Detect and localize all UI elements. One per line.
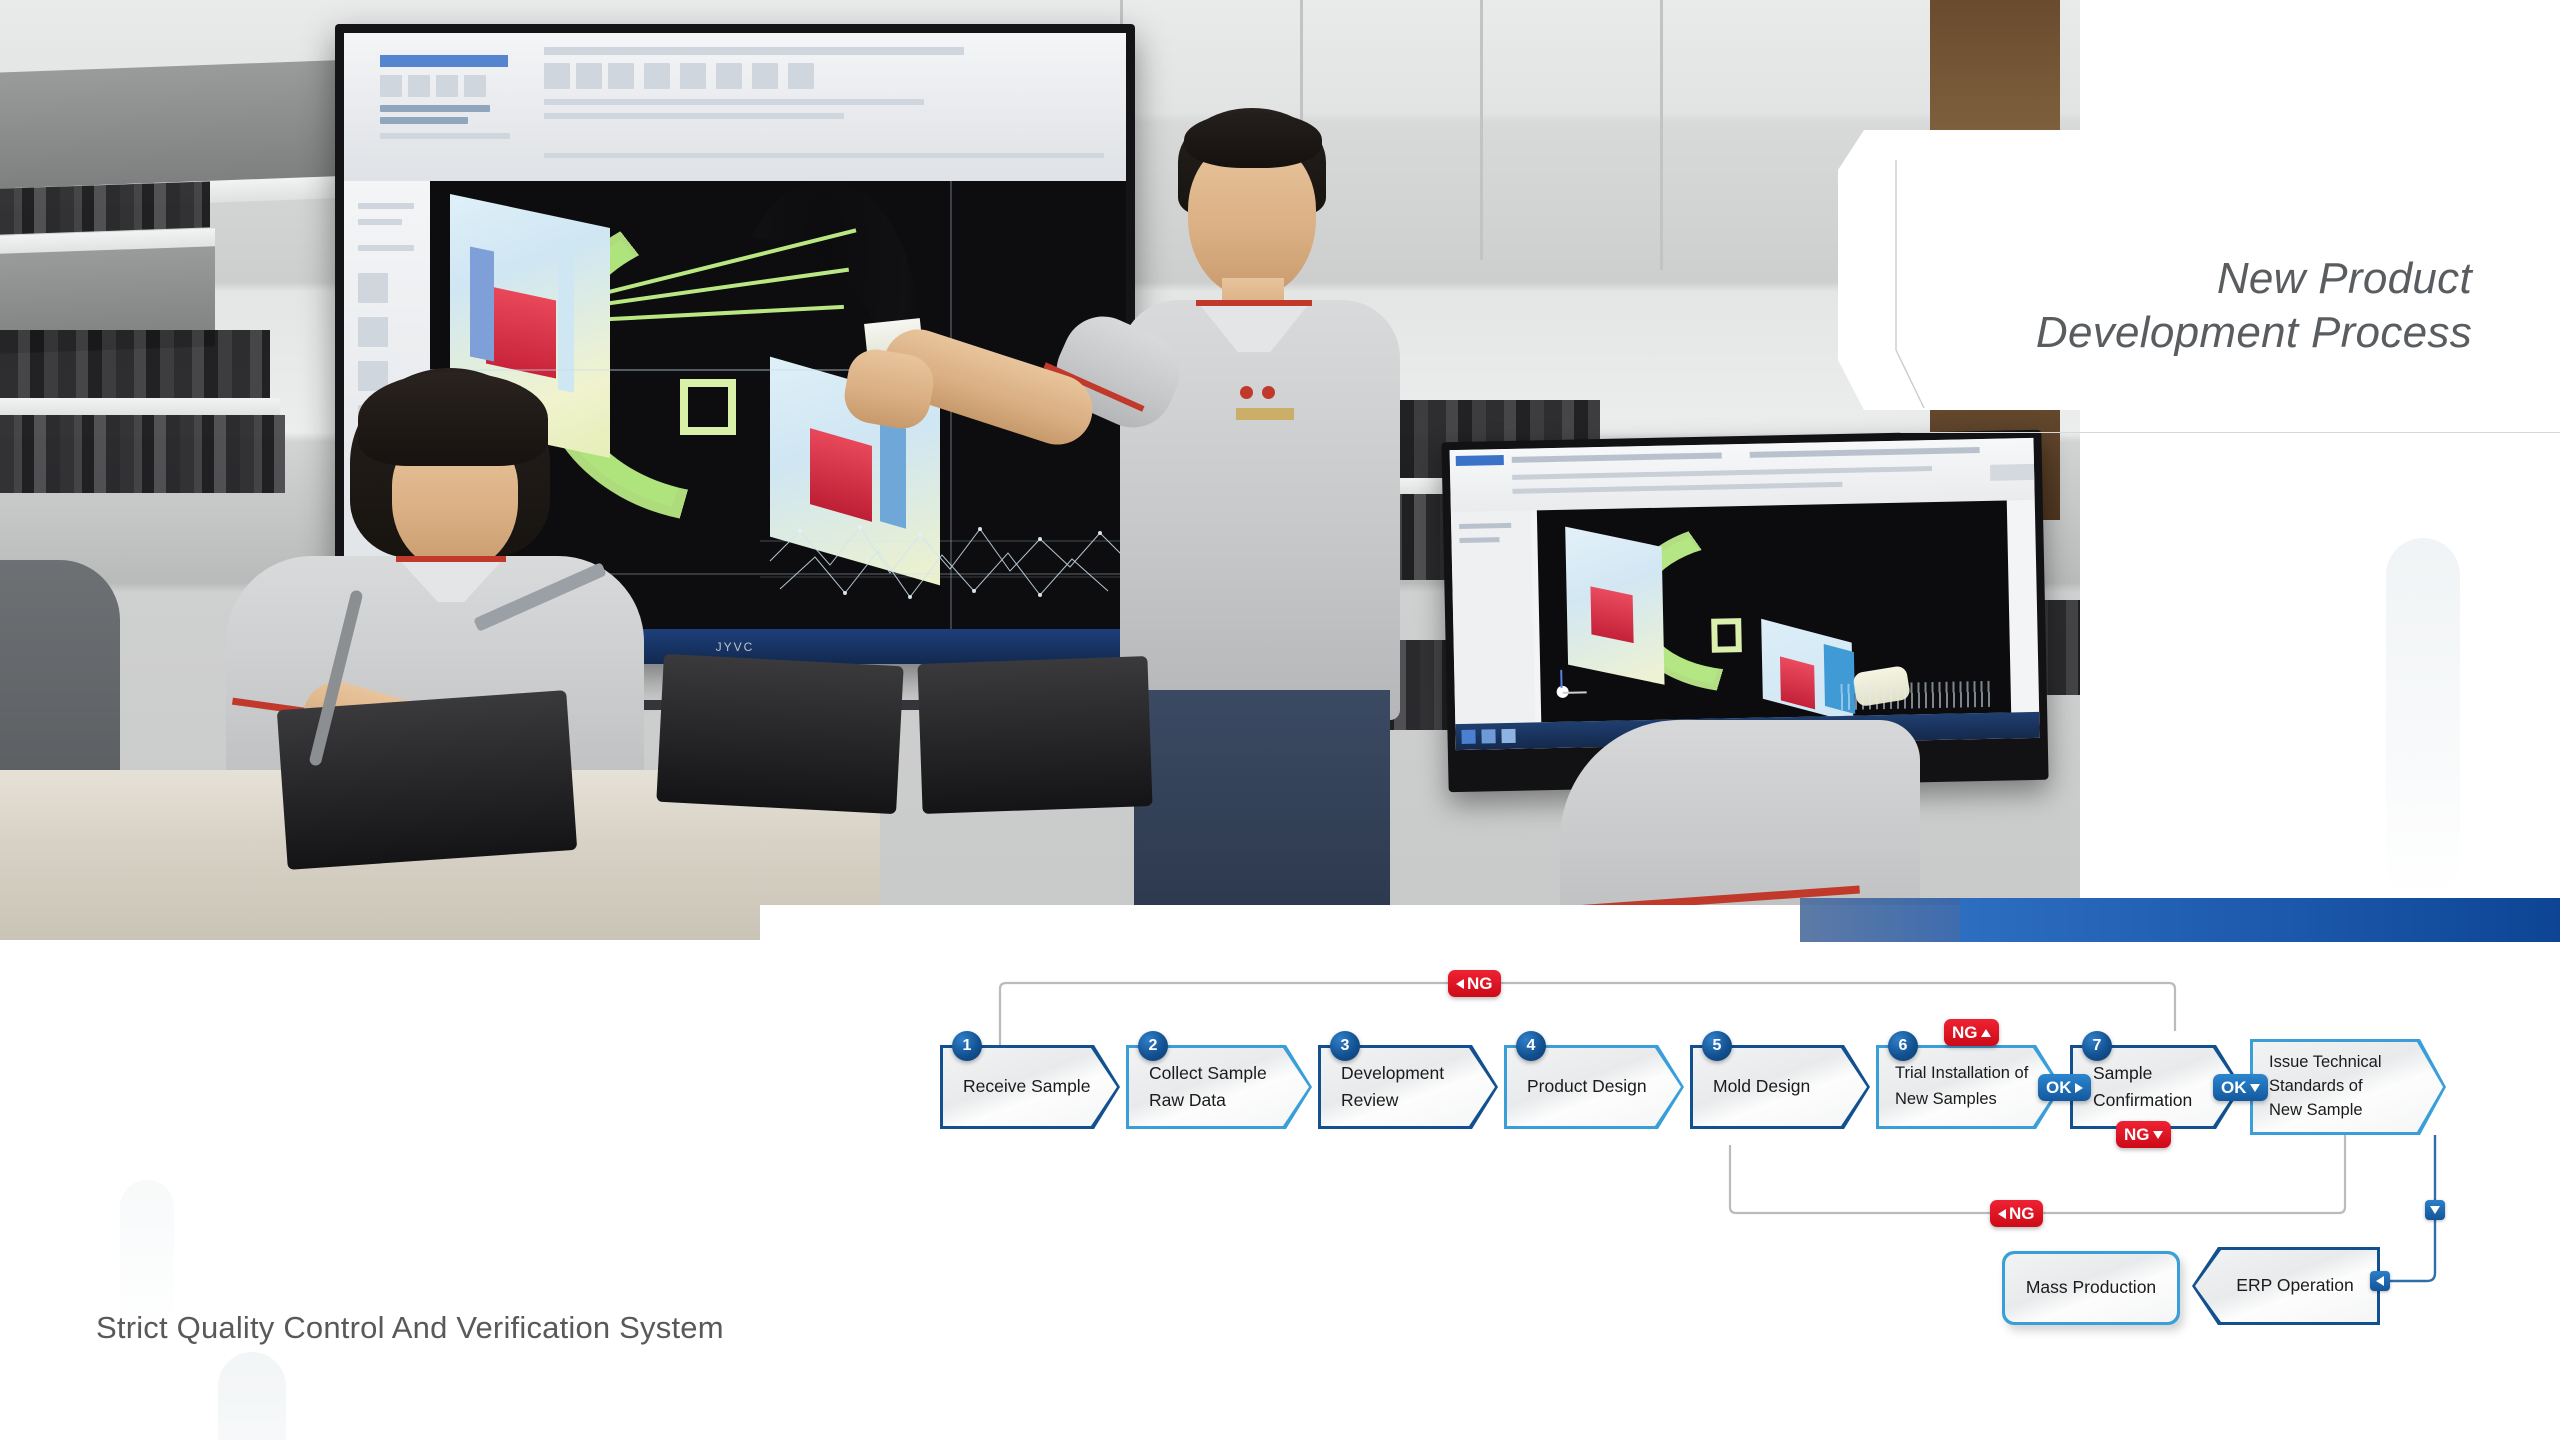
page-title: New Product Development Process (1572, 252, 2472, 359)
flow-step-4-label: Product Design (1527, 1073, 1647, 1100)
watermark-pill-right (2386, 538, 2460, 898)
flow-node-mass-production-label: Mass Production (2026, 1274, 2156, 1301)
flow-badge-ok-step7[interactable]: OK (2213, 1074, 2268, 1101)
person-standing-logo (1262, 386, 1275, 399)
flow-badge-ng-step7[interactable]: NG (2116, 1121, 2171, 1148)
caption-text: Strict Quality Control And Verification … (96, 1310, 724, 1346)
flow-badge-ng-loop-bottom[interactable]: NG (1990, 1200, 2043, 1227)
flow-step-issue-label: Issue Technical Standards of New Sample (2269, 1051, 2382, 1123)
photo-plastic-part (656, 654, 903, 814)
person-standing-hair-fringe (1184, 112, 1322, 168)
flow-step-1-number: 1 (952, 1031, 982, 1061)
page-title-line1: New Product (1572, 252, 2472, 306)
page-title-line2: Development Process (1572, 306, 2472, 360)
flow-step-5-label: Mold Design (1713, 1073, 1810, 1100)
flow-step-7-label: Sample Confirmation (2093, 1060, 2192, 1114)
cabinet-divider (1480, 0, 1483, 260)
flow-step-3-number: 3 (1330, 1031, 1360, 1061)
accent-bar (1960, 898, 2560, 942)
flow-step-2-number: 2 (1138, 1031, 1168, 1061)
cad-toolbar-area (344, 33, 1126, 181)
person-seated-collar-trim (396, 556, 506, 562)
triangle-left-icon (1456, 979, 1464, 989)
flow-badge-ok-step6[interactable]: OK (2038, 1074, 2091, 1101)
monitor-screen (1450, 438, 2040, 750)
flow-step-5-number: 5 (1702, 1031, 1732, 1061)
photo-parts-row (0, 330, 270, 400)
process-flowchart: Receive Sample 1 Collect Sample Raw Data… (940, 955, 2500, 1385)
flow-step-2-label: Collect Sample Raw Data (1149, 1060, 1267, 1114)
flow-step-4-number: 4 (1516, 1031, 1546, 1061)
display-brand-label: JYVC (716, 640, 755, 654)
accent-bar-left (1800, 898, 1970, 942)
flow-badge-ng-step6[interactable]: NG (1944, 1019, 1999, 1046)
watermark-pill-left (218, 1352, 286, 1440)
monitor-cad-viewport (1537, 500, 2011, 722)
flow-node-erp-operation[interactable]: ERP Operation (2192, 1247, 2380, 1325)
flow-node-mass-production[interactable]: Mass Production (2002, 1251, 2180, 1325)
hero-photo: JYVC (0, 0, 2080, 940)
flow-badge-ng-step6-label: NG (1952, 1023, 1978, 1043)
person-seated-hair-front (358, 372, 548, 466)
flow-step-3-label: Development Review (1341, 1060, 1444, 1114)
flow-step-issue-technical-standards[interactable]: Issue Technical Standards of New Sample (2250, 1039, 2446, 1135)
cabinet-divider (1660, 0, 1663, 270)
flow-badge-ok-step6-label: OK (2046, 1078, 2072, 1098)
photo-parts-row (0, 415, 285, 493)
triangle-left-icon (2376, 1276, 2384, 1286)
watermark-pill-left-2 (120, 1180, 174, 1330)
flow-marker-left (2370, 1271, 2390, 1291)
triangle-down-icon (2153, 1131, 2163, 1139)
flow-step-6-label: Trial Installation of New Samples (1895, 1061, 2028, 1112)
flow-badge-ng-loop-top[interactable]: NG (1448, 970, 1501, 997)
triangle-up-icon (1981, 1029, 1991, 1037)
flow-badge-ng-step7-label: NG (2124, 1125, 2150, 1145)
photo-shelf-items (0, 181, 210, 234)
photo-plastic-part (917, 656, 1152, 814)
triangle-down-icon (2430, 1206, 2440, 1214)
flow-step-7-number: 7 (2082, 1031, 2112, 1061)
flow-badge-ng-loop-bottom-label: NG (2009, 1204, 2035, 1224)
person-standing-logo (1240, 386, 1253, 399)
slide-canvas: JYVC (0, 0, 2560, 1440)
title-divider-rule (1900, 432, 2560, 433)
triangle-right-icon (2075, 1083, 2083, 1093)
triangle-down-icon (2250, 1084, 2260, 1092)
flow-marker-down (2425, 1200, 2445, 1220)
flow-node-erp-operation-label: ERP Operation (2236, 1272, 2353, 1299)
person-standing-jeans (1134, 690, 1390, 940)
flow-badge-ng-loop-top-label: NG (1467, 974, 1493, 994)
flow-badge-ok-step7-label: OK (2221, 1078, 2247, 1098)
photo-shelf-edge (0, 398, 280, 416)
person-standing-chest-text (1236, 408, 1294, 420)
person-standing-collar-trim (1196, 300, 1312, 306)
triangle-left-icon (1998, 1209, 2006, 1219)
flow-step-6-number: 6 (1888, 1031, 1918, 1061)
flow-step-1-label: Receive Sample (963, 1073, 1090, 1100)
